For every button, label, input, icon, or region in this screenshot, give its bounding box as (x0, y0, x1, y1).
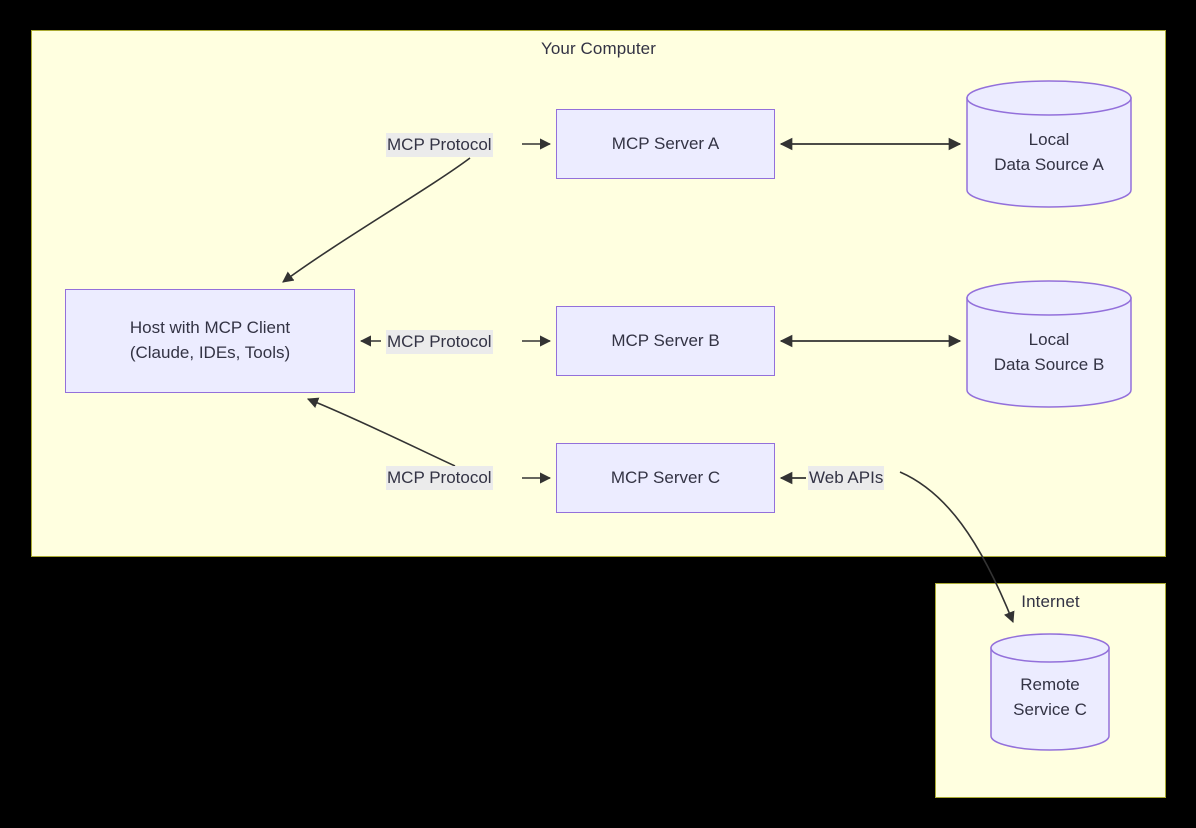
cylinder-icon (966, 80, 1132, 208)
node-mcp-server-b[interactable]: MCP Server B (556, 306, 775, 376)
edge-label-mcp-protocol-a: MCP Protocol (386, 133, 493, 157)
server-a-label: MCP Server A (612, 132, 719, 157)
edge-label-mcp-protocol-b: MCP Protocol (386, 330, 493, 354)
container-your-computer-title: Your Computer (32, 39, 1165, 59)
host-label-line1: Host with MCP Client (130, 316, 290, 341)
node-local-data-source-a[interactable]: Local Data Source A (966, 80, 1132, 208)
diagram-canvas: Your Computer Internet (0, 0, 1196, 828)
cylinder-icon (966, 280, 1132, 408)
node-remote-service-c[interactable]: Remote Service C (990, 633, 1110, 753)
host-label-line2: (Claude, IDEs, Tools) (130, 341, 290, 366)
edge-label-web-apis: Web APIs (808, 466, 884, 490)
node-host-with-mcp-client[interactable]: Host with MCP Client (Claude, IDEs, Tool… (65, 289, 355, 393)
cylinder-icon (990, 633, 1110, 753)
edge-label-mcp-protocol-c: MCP Protocol (386, 466, 493, 490)
server-b-label: MCP Server B (611, 329, 719, 354)
node-mcp-server-c[interactable]: MCP Server C (556, 443, 775, 513)
server-c-label: MCP Server C (611, 466, 720, 491)
node-local-data-source-b[interactable]: Local Data Source B (966, 280, 1132, 408)
node-mcp-server-a[interactable]: MCP Server A (556, 109, 775, 179)
container-internet-title: Internet (936, 592, 1165, 612)
